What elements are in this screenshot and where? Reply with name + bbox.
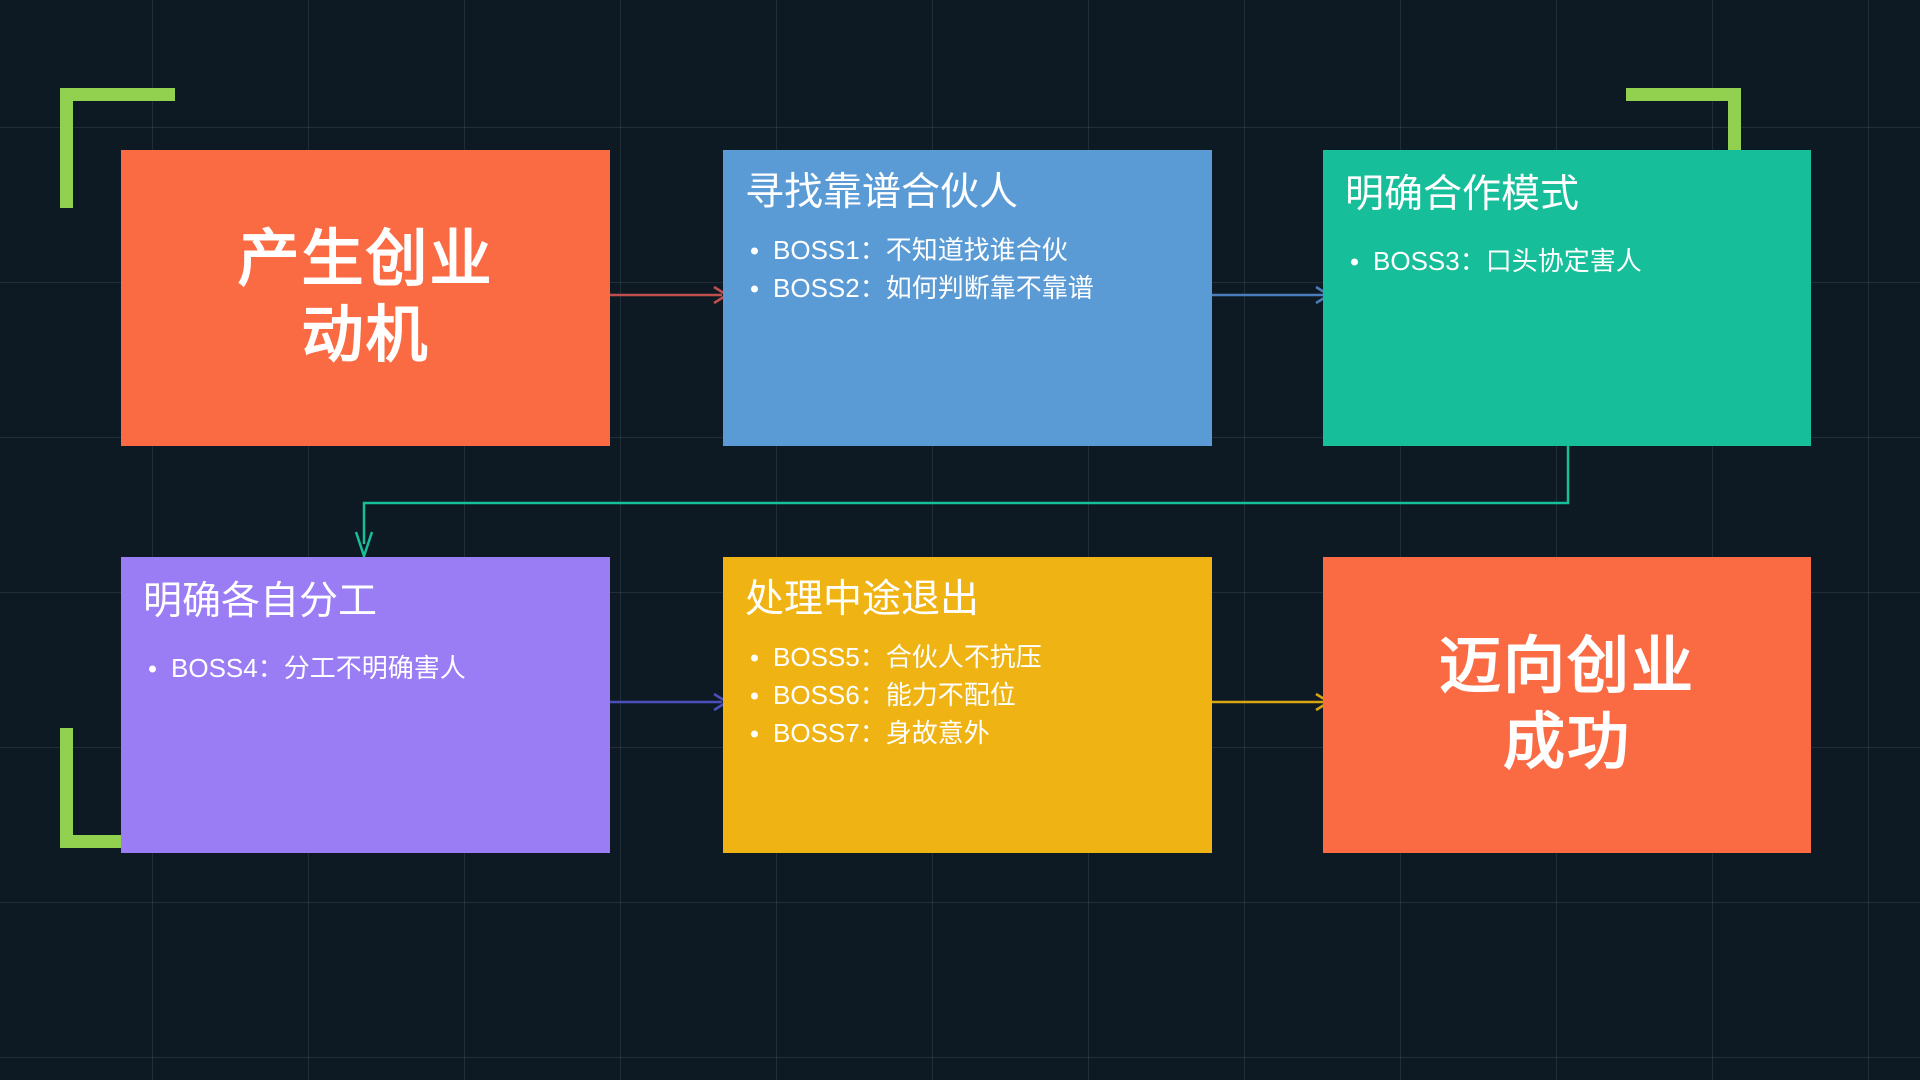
flow-node-handle-exit[interactable]: 处理中途退出 BOSS5：合伙人不抗压 BOSS6：能力不配位 BOSS7：身故… [723, 557, 1212, 853]
list-item: BOSS6：能力不配位 [745, 677, 1212, 715]
bracket-vertical-bar [60, 728, 73, 848]
bracket-vertical-bar [60, 88, 73, 208]
connector-node1-to-node2 [610, 280, 735, 310]
flow-node-bullet-list: BOSS5：合伙人不抗压 BOSS6：能力不配位 BOSS7：身故意外 [745, 639, 1212, 753]
connector-node4-to-node5 [610, 687, 735, 717]
flow-node-title: 明确各自分工 [143, 581, 610, 624]
list-item: BOSS1：不知道找谁合伙 [745, 232, 1212, 270]
flow-node-cooperation-mode[interactable]: 明确合作模式 BOSS3：口头协定害人 [1323, 150, 1811, 446]
flow-node-title: 迈向创业 成功 [1439, 629, 1695, 780]
list-item: BOSS5：合伙人不抗压 [745, 639, 1212, 677]
list-item: BOSS2：如何判断靠不靠谱 [745, 270, 1212, 308]
connector-node3-to-node4 [355, 446, 1575, 566]
flow-node-success[interactable]: 迈向创业 成功 [1323, 557, 1811, 853]
flow-node-division-of-labor[interactable]: 明确各自分工 BOSS4：分工不明确害人 [121, 557, 610, 853]
flow-node-title: 明确合作模式 [1345, 174, 1811, 217]
flow-node-title: 产生创业 动机 [237, 222, 493, 373]
connector-node2-to-node3 [1212, 280, 1337, 310]
flow-node-bullet-list: BOSS1：不知道找谁合伙 BOSS2：如何判断靠不靠谱 [745, 232, 1212, 308]
flow-node-title: 寻找靠谱合伙人 [745, 172, 1212, 215]
list-item: BOSS7：身故意外 [745, 715, 1212, 753]
flow-node-motivation[interactable]: 产生创业 动机 [121, 150, 610, 446]
flow-node-find-partner[interactable]: 寻找靠谱合伙人 BOSS1：不知道找谁合伙 BOSS2：如何判断靠不靠谱 [723, 150, 1212, 446]
flow-node-bullet-list: BOSS3：口头协定害人 [1345, 243, 1811, 281]
connector-node5-to-node6 [1212, 687, 1337, 717]
bracket-horizontal-bar [1626, 88, 1741, 101]
flow-node-bullet-list: BOSS4：分工不明确害人 [143, 650, 610, 688]
list-item: BOSS4：分工不明确害人 [143, 650, 610, 688]
bracket-horizontal-bar [60, 88, 175, 101]
flow-node-title: 处理中途退出 [745, 579, 1212, 622]
list-item: BOSS3：口头协定害人 [1345, 243, 1811, 281]
